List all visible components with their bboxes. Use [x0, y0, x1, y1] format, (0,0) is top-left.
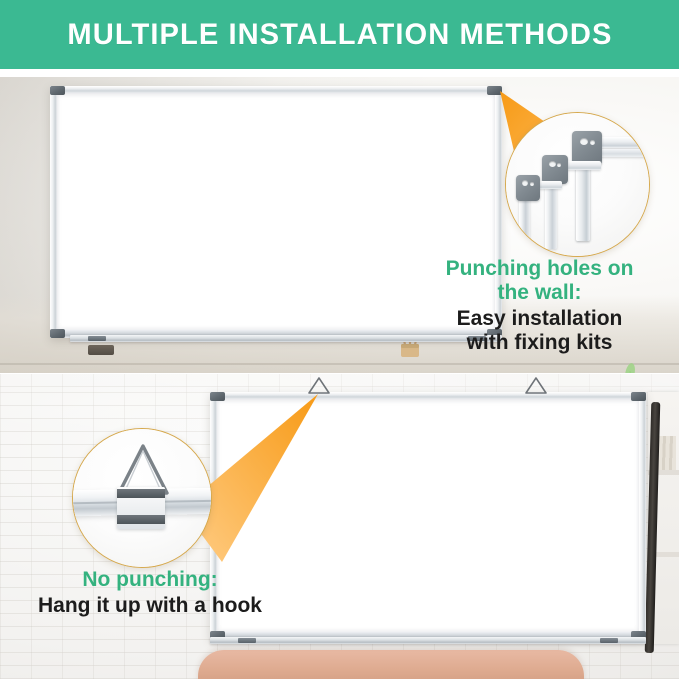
hanging-hook-right	[524, 377, 546, 393]
product-infographic: MULTIPLE INSTALLATION METHODS	[0, 0, 679, 679]
corner-cap-top-left	[50, 86, 65, 95]
callout-body-line-2: with fixing kits	[400, 331, 679, 355]
zoom-circle-fixing-kits	[505, 112, 650, 257]
corner-cap-bottom-left	[50, 329, 65, 338]
callout-heading-line-2: the wall:	[400, 281, 679, 305]
frame-stile-left	[50, 86, 57, 338]
photo-panel-punching: Punching holes on the wall: Easy install…	[0, 77, 679, 373]
desk-object	[88, 345, 114, 355]
pen-tray-stop-left	[88, 336, 106, 341]
pen-tray-bottom	[210, 637, 646, 644]
frame-rail-top	[50, 86, 502, 93]
callout-body-no-punching: Hang it up with a hook	[0, 594, 300, 618]
callout-text-no-punching: No punching: Hang it up with a hook	[0, 568, 300, 619]
callout-body-line-1: Easy installation	[400, 307, 679, 331]
page-title: MULTIPLE INSTALLATION METHODS	[67, 18, 612, 52]
banner-divider	[0, 69, 679, 77]
callout-text-punching: Punching holes on the wall: Easy install…	[400, 257, 679, 355]
header-banner: MULTIPLE INSTALLATION METHODS	[0, 0, 679, 69]
pen-tray-stop-right-bottom	[600, 638, 618, 643]
photo-panel-no-punching: No punching: Hang it up with a hook	[0, 374, 679, 679]
callout-heading-no-punching: No punching:	[0, 568, 300, 592]
zoom-circle-hook	[72, 428, 212, 568]
fixing-bracket-small	[516, 175, 562, 253]
desk-edge-line	[0, 363, 679, 365]
hook-plate-band-top	[117, 489, 165, 498]
couch	[198, 650, 584, 679]
hook-plate-band-bottom	[117, 515, 165, 524]
corner-cap-top-right-bottom-board	[631, 392, 646, 401]
frame-stile-right-bottom-board	[639, 392, 646, 640]
callout-heading-line-1: Punching holes on	[400, 257, 679, 281]
pen-tray-stop-left-bottom	[238, 638, 256, 643]
